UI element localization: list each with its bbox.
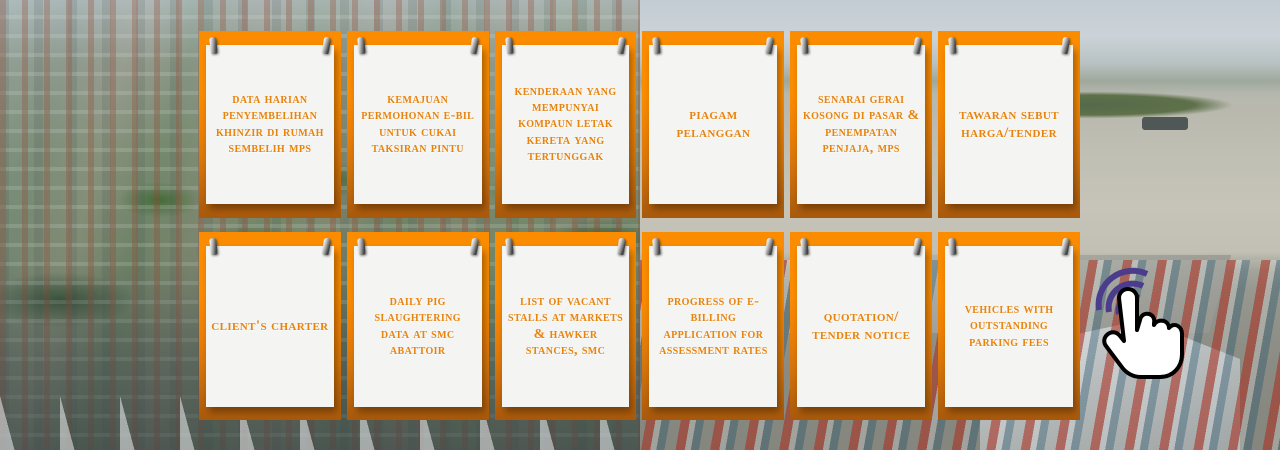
card-row-english: Client's Charter Daily Pig Slaughtering … [199,232,1080,420]
paper-clip-icon [800,37,809,55]
card-title: Daily Pig Slaughtering Data At SMC Abatt… [359,294,477,359]
card-title: Progress Of e-Billing Application For As… [654,294,772,359]
paper-clip-icon [1061,37,1070,55]
card-kenderaan-kompaun-letak-kereta[interactable]: Kenderaan Yang Mempunyai Kompaun Letak K… [495,31,637,218]
card-page[interactable]: Progress Of e-Billing Application For As… [649,246,777,407]
paper-clip-icon [357,37,366,55]
card-quotation-tender-notice[interactable]: Quotation/ Tender Notice [790,232,932,420]
paper-clip-icon [322,37,331,55]
paper-clip-icon [209,238,218,256]
card-title: List Of Vacant Stalls At Markets & Hawke… [507,294,625,359]
paper-clip-icon [800,238,809,256]
card-page[interactable]: Client's Charter [206,246,334,407]
paper-clip-icon [470,238,479,256]
card-daily-pig-slaughtering-data[interactable]: Daily Pig Slaughtering Data At SMC Abatt… [347,232,489,420]
paper-clip-icon [617,238,626,256]
card-page[interactable]: Piagam Pelanggan [649,45,777,204]
card-piagam-pelanggan[interactable]: Piagam Pelanggan [642,31,784,218]
card-row-malay: Data Harian Penyembelihan Khinzir Di Rum… [199,31,1080,218]
card-clients-charter[interactable]: Client's Charter [199,232,341,420]
card-title: Vehicles With Outstanding Parking Fees [950,302,1068,351]
row-gap [199,218,1080,232]
card-page[interactable]: Tawaran Sebut Harga/Tender [945,45,1073,204]
paper-clip-icon [913,37,922,55]
paper-clip-icon [948,238,957,256]
card-page[interactable]: Data Harian Penyembelihan Khinzir Di Rum… [206,45,334,204]
card-page[interactable]: Daily Pig Slaughtering Data At SMC Abatt… [354,246,482,407]
card-title: Data Harian Penyembelihan Khinzir Di Rum… [211,92,329,157]
card-page[interactable]: Kemajuan Permohonan e-Bil Untuk Cukai Ta… [354,45,482,204]
paper-clip-icon [505,37,514,55]
paper-clip-icon [470,37,479,55]
paper-clip-icon [1061,238,1070,256]
card-title: Senarai Gerai Kosong di Pasar & Penempat… [802,92,920,157]
card-senarai-gerai-kosong[interactable]: Senarai Gerai Kosong di Pasar & Penempat… [790,31,932,218]
card-title: Piagam Pelanggan [654,107,772,142]
paper-clip-icon [652,37,661,55]
card-vehicles-with-outstanding-parking-fees[interactable]: Vehicles With Outstanding Parking Fees [938,232,1080,420]
paper-clip-icon [505,238,514,256]
card-tawaran-sebut-harga-tender[interactable]: Tawaran Sebut Harga/Tender [938,31,1080,218]
card-title: Kenderaan Yang Mempunyai Kompaun Letak K… [507,84,625,165]
paper-clip-icon [322,238,331,256]
card-title: Client's Charter [211,318,328,335]
paper-clip-icon [617,37,626,55]
card-data-harian-penyembelihan[interactable]: Data Harian Penyembelihan Khinzir Di Rum… [199,31,341,218]
card-progress-of-ebilling-application[interactable]: Progress Of e-Billing Application For As… [642,232,784,420]
card-list-of-vacant-stalls[interactable]: List Of Vacant Stalls At Markets & Hawke… [495,232,637,420]
card-page[interactable]: List Of Vacant Stalls At Markets & Hawke… [502,246,630,407]
paper-clip-icon [765,37,774,55]
card-grid: Data Harian Penyembelihan Khinzir Di Rum… [199,31,1080,420]
paper-clip-icon [948,37,957,55]
paper-clip-icon [652,238,661,256]
paper-clip-icon [913,238,922,256]
card-page[interactable]: Quotation/ Tender Notice [797,246,925,407]
paper-clip-icon [765,238,774,256]
card-kemajuan-permohonan-ebil[interactable]: Kemajuan Permohonan e-Bil Untuk Cukai Ta… [347,31,489,218]
page-root: Data Harian Penyembelihan Khinzir Di Rum… [0,0,1280,450]
card-title: Kemajuan Permohonan e-Bil Untuk Cukai Ta… [359,92,477,157]
paper-clip-icon [209,37,218,55]
card-title: Tawaran Sebut Harga/Tender [950,107,1068,142]
card-page[interactable]: Kenderaan Yang Mempunyai Kompaun Letak K… [502,45,630,204]
card-page[interactable]: Vehicles With Outstanding Parking Fees [945,246,1073,407]
card-page[interactable]: Senarai Gerai Kosong di Pasar & Penempat… [797,45,925,204]
river-barge [1142,117,1188,130]
card-title: Quotation/ Tender Notice [802,309,920,344]
paper-clip-icon [357,238,366,256]
